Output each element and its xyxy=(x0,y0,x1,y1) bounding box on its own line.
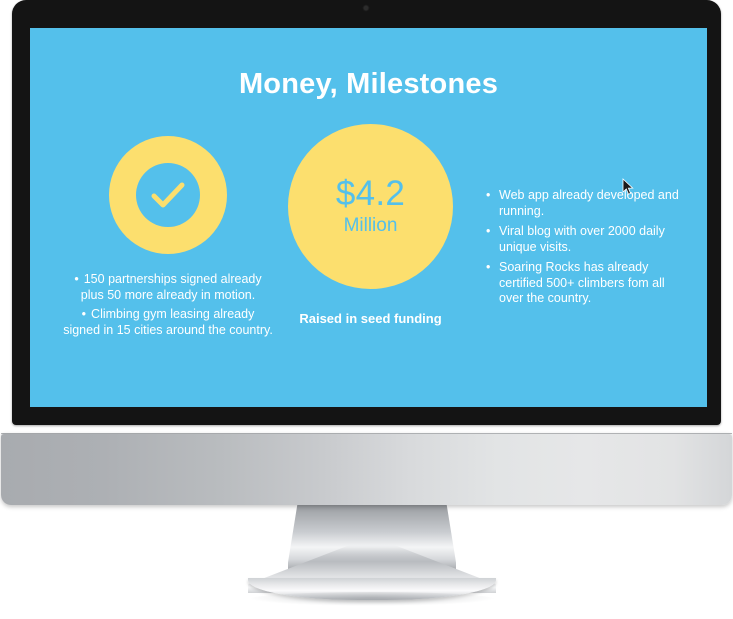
list-item-label: Soaring Rocks has already certified 500+… xyxy=(499,260,665,305)
funding-unit: Million xyxy=(344,214,398,238)
list-item: •Soaring Rocks has already certified 500… xyxy=(486,260,686,307)
monitor-chin-divider xyxy=(1,433,732,434)
funding-caption: Raised in seed funding xyxy=(278,311,463,326)
funding-circle: $4.2 Million xyxy=(288,124,453,289)
monitor-chin-bar xyxy=(1,433,732,505)
bullet-marker: • xyxy=(486,260,490,276)
list-item: •150 partnerships signed already plus 50… xyxy=(62,272,274,303)
bullet-marker: • xyxy=(74,272,78,288)
checkmark-icon xyxy=(136,163,200,227)
monitor-device: Money, Milestones •150 partnerships sign… xyxy=(0,0,733,619)
list-item-label: Viral blog with over 2000 daily unique v… xyxy=(499,224,665,254)
bullet-marker: • xyxy=(82,307,86,323)
bullet-marker: • xyxy=(486,188,490,204)
list-item-label: Web app already developed and running. xyxy=(499,188,679,218)
mouse-pointer-icon xyxy=(622,178,634,196)
left-column: •150 partnerships signed already plus 50… xyxy=(62,136,274,342)
center-column: $4.2 Million Raised in seed funding xyxy=(278,124,463,326)
right-bullet-list: •Web app already developed and running. … xyxy=(486,188,686,307)
camera-dot-icon xyxy=(363,5,369,11)
page-title: Money, Milestones xyxy=(30,68,707,101)
bullet-marker: • xyxy=(486,224,490,240)
right-column: •Web app already developed and running. … xyxy=(486,188,686,312)
list-item: •Viral blog with over 2000 daily unique … xyxy=(486,224,686,255)
list-item-label: Climbing gym leasing already signed in 1… xyxy=(63,307,273,337)
check-badge-inner xyxy=(136,163,200,227)
left-bullet-list: •150 partnerships signed already plus 50… xyxy=(62,272,274,338)
list-item: •Web app already developed and running. xyxy=(486,188,686,219)
list-item-label: 150 partnerships signed already plus 50 … xyxy=(81,272,262,302)
funding-amount: $4.2 xyxy=(336,176,405,212)
check-badge xyxy=(109,136,227,254)
screen-display[interactable]: Money, Milestones •150 partnerships sign… xyxy=(30,28,707,407)
list-item: •Climbing gym leasing already signed in … xyxy=(62,307,274,338)
monitor-foot-shadow xyxy=(250,592,494,606)
